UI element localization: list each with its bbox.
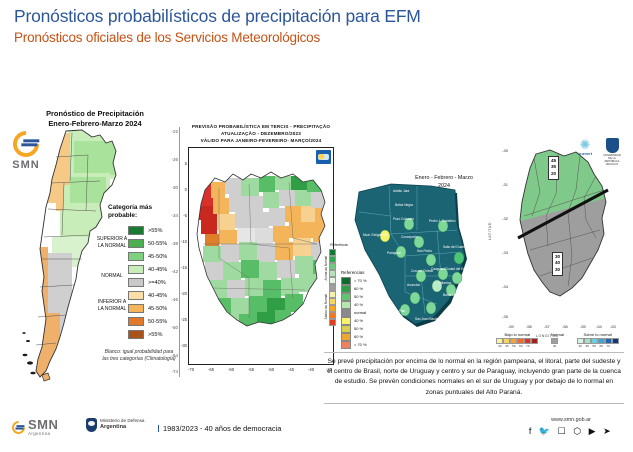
argentina-shield-icon	[86, 418, 97, 432]
svg-text:Pozo Colorado: Pozo Colorado	[393, 217, 414, 221]
colorbar-swatch	[329, 270, 336, 277]
legend-swatch	[128, 291, 144, 300]
instagram-icon[interactable]: ☐	[558, 426, 569, 437]
facebook-icon[interactable]: f	[529, 426, 534, 436]
lon-tick: -40	[308, 367, 314, 372]
legend-label: normal	[354, 310, 366, 315]
colorbar-swatch	[329, 263, 336, 270]
argentina-map-title-line1: Pronóstico de Precipitación	[8, 109, 182, 119]
legend-num: 50	[510, 344, 517, 348]
footer-smn-logo: SMN Argentina	[12, 418, 58, 436]
uruguay-north-values: 45 35 20	[548, 156, 559, 180]
north-value-below: 20	[551, 171, 556, 178]
legend-label: 45-50%	[148, 306, 167, 312]
legend-num: 60	[598, 344, 605, 348]
legend-label: >55%	[148, 228, 162, 234]
legend-swatch	[341, 277, 351, 285]
colorbar-group-above: Acima da Normal	[324, 256, 328, 280]
uruguay-legend-normal: Normal 40	[551, 332, 564, 348]
legend-num: 70	[605, 344, 612, 348]
smn-logo-icon	[9, 418, 27, 436]
argentina-legend-group-normal: NORMAL	[96, 273, 128, 279]
svg-text:Salto del Guairá: Salto del Guairá	[443, 245, 466, 249]
footer-ministry-logo: Ministerio de Defensa Argentina	[86, 418, 144, 432]
uruguay-south-values: 30 40 30	[552, 252, 563, 276]
lon-tick: -60	[228, 367, 234, 372]
page-header: Pronósticos probabilísticos de precipita…	[0, 0, 633, 47]
legend-swatch	[128, 239, 144, 248]
argentina-legend-group-above-l1: SUPERIOR A	[96, 236, 128, 242]
brazil-panel: PREVISÃO PROBABILÍSTICA EM TERCIS - PREC…	[176, 123, 346, 413]
legend-swatch	[341, 325, 351, 333]
south-value-below: 30	[555, 267, 560, 274]
lon-tick: -55	[248, 367, 254, 372]
legend-swatch	[128, 330, 144, 339]
colorbar-group-below: Abaixo da Normal	[324, 294, 328, 319]
footer-social-icons: f 🐦 ☐ ⬡ ▶ ➤	[525, 426, 617, 437]
legend-num: 40	[496, 344, 503, 348]
footer-url[interactable]: www.smn.gob.ar	[525, 417, 617, 423]
lat-tick: -35	[502, 314, 508, 319]
legend-label: 50-55%	[148, 319, 167, 325]
lon-tick: -56	[562, 324, 568, 329]
legend-label: > 70 %	[354, 278, 367, 283]
svg-text:Bahía Negra: Bahía Negra	[395, 203, 413, 207]
legend-swatch	[128, 226, 144, 235]
summary-text: Se prevé precipitación por encima de lo …	[326, 357, 622, 398]
legend-num: 45	[503, 344, 510, 348]
legend-label: 45-50%	[148, 254, 167, 260]
brazil-colorbar-labels: Acima da Normal Abaixo da Normal	[324, 249, 328, 326]
brazil-colorbar-swatches	[329, 249, 336, 326]
lat-tick: 5	[185, 161, 187, 166]
svg-text:Mcal. Estigarribia: Mcal. Estigarribia	[363, 233, 388, 237]
threads-icon[interactable]: ⬡	[573, 426, 583, 437]
lat-tick: -30	[181, 343, 187, 348]
footer-ministry-line2: Argentina	[100, 424, 126, 430]
legend-label: 40-45%	[148, 267, 167, 273]
argentina-legend-group-above-l2: LA NORMAL	[96, 243, 128, 249]
uruguay-legend-above-nums: 40 45 50 60 70	[577, 344, 619, 348]
lon-tick: -50	[268, 367, 274, 372]
page-title: Pronósticos probabilísticos de precipita…	[14, 6, 633, 28]
argentina-map-title: Pronóstico de Precipitación Enero-Febrer…	[8, 109, 182, 129]
svg-text:San Juan Bautista: San Juan Bautista	[415, 317, 441, 321]
lat-tick: -10	[181, 239, 187, 244]
legend-item: 40 %	[341, 317, 375, 325]
legend-swatch	[341, 293, 351, 301]
brazil-map-frame	[188, 147, 334, 365]
lat-tick: -32	[502, 216, 508, 221]
telegram-icon[interactable]: ➤	[603, 426, 613, 437]
youtube-icon[interactable]: ▶	[589, 426, 598, 437]
lat-tick: -25	[181, 317, 187, 322]
argentina-legend-note-l2: las tres categorías (Climatología)	[100, 356, 178, 363]
uruguay-latitude-axis: -30 -31 -32 -33 -34 -35	[496, 142, 510, 324]
legend-label: 60 %	[354, 334, 363, 339]
legend-num: 70	[524, 344, 531, 348]
footer-ministry-text: Ministerio de Defensa Argentina	[100, 418, 144, 432]
legend-num: 60	[517, 344, 524, 348]
lat-tick: -33	[502, 250, 508, 255]
legend-label: 50 %	[354, 294, 363, 299]
lon-tick: -58	[526, 324, 532, 329]
colorbar-swatch	[329, 277, 336, 284]
legend-num: 45	[584, 344, 591, 348]
argentina-legend-note-l1: Blanco: igual probabilidad para	[100, 349, 178, 356]
legend-label: 40 %	[354, 318, 363, 323]
legend-swatch	[341, 333, 351, 341]
colorbar-swatch	[329, 284, 336, 291]
legend-swatch	[341, 341, 351, 349]
uruguay-legend-above: Sobre lo normal 40 45 50 60 70	[577, 332, 619, 348]
svg-text:Adrián Jara: Adrián Jara	[393, 189, 410, 193]
brazil-title-line2: ATUALIZAÇÃO - DEZEMBRO/2023	[176, 130, 346, 137]
colorbar-swatch	[329, 298, 336, 305]
argentina-panel: Pronóstico de Precipitación Enero-Febrer…	[0, 109, 182, 404]
lon-tick: -70	[188, 367, 194, 372]
uruguay-panel: ✺ inumet UNIVERSIDAD DE LA REPÚBLICA URU…	[478, 132, 633, 377]
legend-swatch	[341, 309, 351, 317]
uruguay-legend: Bajo lo normal 40 45 50 60 70	[490, 332, 625, 348]
legend-item: 60 %	[341, 285, 375, 293]
legend-swatch	[128, 252, 144, 261]
uruguay-y-axis-label: LATITUD	[488, 222, 492, 240]
svg-text:Ciudad del Este: Ciudad del Este	[445, 267, 468, 271]
legend-label: 40 %	[354, 302, 363, 307]
twitter-icon[interactable]: 🐦	[539, 426, 553, 437]
legend-item: 50 %	[341, 325, 375, 333]
inmet-logo-icon	[316, 150, 331, 164]
legend-label: >55%	[148, 332, 162, 338]
brazil-map-title: PREVISÃO PROBABILÍSTICA EM TERCIS - PREC…	[176, 123, 346, 145]
brazil-latitude-axis: 5 0 -5 -10 -15 -20 -25 -30	[176, 147, 188, 365]
svg-text:Asunción: Asunción	[407, 283, 420, 287]
colorbar-swatch	[329, 291, 336, 298]
north-value-above: 45	[551, 158, 556, 165]
svg-text:San Pedro: San Pedro	[417, 249, 432, 253]
lat-tick: -34	[502, 284, 508, 289]
lat-tick: 0	[185, 187, 187, 192]
lon-tick: -54	[596, 324, 602, 329]
lat-tick: -15	[181, 265, 187, 270]
page-footer: SMN Argentina Ministerio de Defensa Arge…	[0, 400, 633, 452]
footer-democracy-text: 1983/2023 - 40 años de democracia	[158, 425, 281, 432]
lat-tick: -30	[502, 148, 508, 153]
south-value-normal: 40	[555, 260, 560, 267]
brazil-title-line3: VÁLIDO PARA JANEIRO-FEVEREIRO- MARÇO/202…	[176, 137, 346, 144]
lon-tick: -55	[580, 324, 586, 329]
uruguay-legend-below-caption: Bajo lo normal	[496, 332, 538, 337]
lat-tick: -31	[502, 182, 508, 187]
legend-item: > 70 %	[341, 341, 375, 349]
footer-smn-name: SMN	[28, 418, 58, 431]
uruguay-map-graphic	[510, 146, 614, 316]
svg-text:Bahía Negra: Bahía Negra	[443, 293, 461, 297]
legend-swatch	[341, 285, 351, 293]
paraguay-legend-title: Referencias	[341, 270, 375, 275]
uruguay-map-frame: LATITUD -30 -31 -32 -33 -34 -35	[496, 142, 618, 324]
brazil-map-graphic	[189, 148, 334, 365]
uruguay-legend-below-nums: 40 45 50 60 70	[496, 344, 538, 348]
brazil-title-line1: PREVISÃO PROBABILÍSTICA EM TERCIS - PREC…	[176, 123, 346, 130]
summary-box: Se prevé precipitación por encima de lo …	[324, 352, 624, 404]
legend-swatch	[128, 265, 144, 274]
colorbar-swatch	[329, 305, 336, 312]
legend-num: 40	[577, 344, 584, 348]
legend-label: >=40%	[148, 280, 166, 286]
legend-num	[531, 344, 538, 348]
legend-label: 60 %	[354, 286, 363, 291]
legend-label: 40-45%	[148, 293, 167, 299]
south-value-above: 30	[555, 254, 560, 261]
legend-item: normal	[341, 309, 375, 317]
colorbar-swatch	[329, 319, 336, 326]
uruguay-legend-normal-nums: 40	[551, 344, 564, 348]
legend-item: 40 %	[341, 301, 375, 309]
lon-tick: -65	[208, 367, 214, 372]
north-value-normal: 35	[551, 164, 556, 171]
legend-label: > 70 %	[354, 342, 367, 347]
legend-swatch	[341, 317, 351, 325]
svg-text:Caaguazú: Caaguazú	[431, 267, 446, 271]
legend-num	[612, 344, 619, 348]
paraguay-legend: Referencias > 70 % 60 % 50 % 40 % normal…	[341, 270, 375, 349]
lon-tick: -53	[610, 324, 616, 329]
legend-label: 50 %	[354, 326, 363, 331]
lon-tick: -59	[508, 324, 514, 329]
legend-swatch	[341, 301, 351, 309]
legend-swatch	[128, 317, 144, 326]
legend-label: 50-55%	[148, 241, 167, 247]
lat-tick: -5	[183, 213, 187, 218]
colorbar-swatch	[329, 256, 336, 263]
colorbar-swatch	[329, 312, 336, 319]
colorbar-swatch	[329, 249, 336, 256]
argentina-legend-group-above: SUPERIOR A LA NORMAL	[96, 236, 128, 249]
svg-text:Paraguarí: Paraguarí	[387, 251, 401, 255]
argentina-legend-group-below-l2: LA NORMAL	[96, 306, 128, 312]
legend-swatch	[128, 304, 144, 313]
argentina-legend-group-below: INFERIOR A LA NORMAL	[96, 299, 128, 312]
svg-text:Pilar: Pilar	[399, 309, 406, 313]
maps-container: Pronóstico de Precipitación Enero-Febrer…	[0, 47, 633, 347]
legend-num: 40	[551, 344, 558, 348]
lon-tick: -45	[288, 367, 294, 372]
uruguay-legend-above-caption: Sobre lo normal	[577, 332, 619, 337]
svg-text:Villarrica: Villarrica	[439, 281, 451, 285]
legend-item: 60 %	[341, 333, 375, 341]
page-subtitle: Pronósticos oficiales de los Servicios M…	[14, 30, 633, 47]
legend-item: > 70 %	[341, 277, 375, 285]
argentina-legend-group-below-l1: INFERIOR A	[96, 299, 128, 305]
legend-item: 50 %	[341, 293, 375, 301]
footer-web: www.smn.gob.ar f 🐦 ☐ ⬡ ▶ ➤	[525, 417, 617, 437]
lon-tick: -57	[544, 324, 550, 329]
lat-tick: -20	[181, 291, 187, 296]
svg-text:Pedro J. Caballero: Pedro J. Caballero	[429, 219, 456, 223]
svg-text:Concepción: Concepción	[401, 235, 418, 239]
legend-num: 50	[591, 344, 598, 348]
uruguay-legend-normal-caption: Normal	[551, 332, 564, 337]
legend-swatch	[128, 278, 144, 287]
uruguay-legend-below: Bajo lo normal 40 45 50 60 70	[496, 332, 538, 348]
